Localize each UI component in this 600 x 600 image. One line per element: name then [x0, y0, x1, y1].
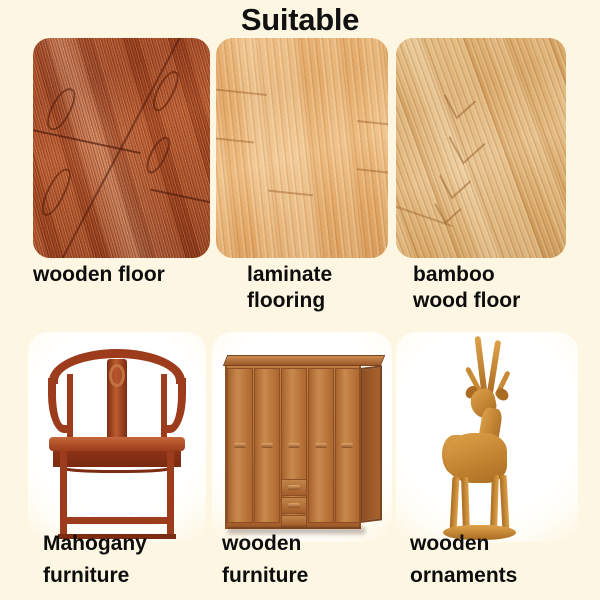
item-label-wooden-ornaments: wooden ornaments	[410, 528, 590, 592]
wood-grain-chevron	[449, 117, 486, 164]
chair-fretwork	[60, 462, 174, 473]
chair-carved-medallion	[109, 364, 125, 387]
page-title: Suitable	[0, 2, 600, 38]
deer-leg	[449, 477, 459, 532]
wardrobe-handle	[261, 443, 274, 448]
product-image-laminate-flooring	[216, 38, 388, 258]
wardrobe-side-panel	[360, 365, 382, 523]
wood-knot	[149, 67, 182, 114]
chair-back-post	[67, 374, 73, 443]
plank-seam	[357, 120, 388, 126]
deer-leg	[461, 477, 470, 532]
plank-seam	[357, 168, 388, 174]
wardrobe-drawer	[281, 515, 307, 528]
wood-grain-chevron	[439, 158, 471, 199]
item-label-laminate-flooring: laminate flooring	[247, 262, 397, 314]
wardrobe-handle	[288, 503, 301, 508]
item-label-wooden-furniture: wooden furniture	[222, 528, 392, 592]
deer-ear	[494, 386, 510, 401]
wood-grain-chevron	[444, 79, 476, 120]
deer-leg	[499, 475, 509, 530]
wood-knot	[37, 164, 75, 219]
wardrobe-handle	[288, 485, 301, 490]
wardrobe-top-panel	[223, 355, 386, 366]
product-image-mahogany-furniture	[28, 332, 206, 542]
armchair-illustration	[28, 332, 206, 542]
plank-seam	[33, 126, 142, 154]
product-image-wooden-ornaments	[396, 332, 578, 542]
plank-seam	[216, 137, 254, 144]
item-label-wooden-floor: wooden floor	[33, 262, 213, 288]
wood-knot	[42, 84, 79, 134]
item-label-mahogany-furniture: Mahogany furniture	[43, 528, 213, 592]
wardrobe-handle	[315, 443, 328, 448]
wardrobe-illustration	[212, 332, 392, 542]
product-image-bamboo-wood-floor	[396, 38, 566, 258]
wardrobe-handle	[288, 443, 301, 448]
chair-back-post	[161, 374, 167, 443]
deer-statue-illustration	[396, 332, 578, 542]
plank-seam	[268, 190, 313, 197]
wood-knot	[142, 133, 173, 176]
plank-seam	[216, 88, 268, 96]
wardrobe-handle	[234, 443, 247, 448]
deer-leg	[490, 475, 499, 530]
wardrobe-handle	[341, 443, 354, 448]
chair-foot-rail	[60, 517, 174, 524]
product-image-wooden-floor	[33, 38, 210, 258]
product-image-wooden-furniture	[212, 332, 392, 542]
chair-seat	[49, 437, 184, 451]
item-label-bamboo-wood-floor: bamboo wood floor	[413, 262, 573, 314]
plank-seam	[150, 189, 210, 206]
